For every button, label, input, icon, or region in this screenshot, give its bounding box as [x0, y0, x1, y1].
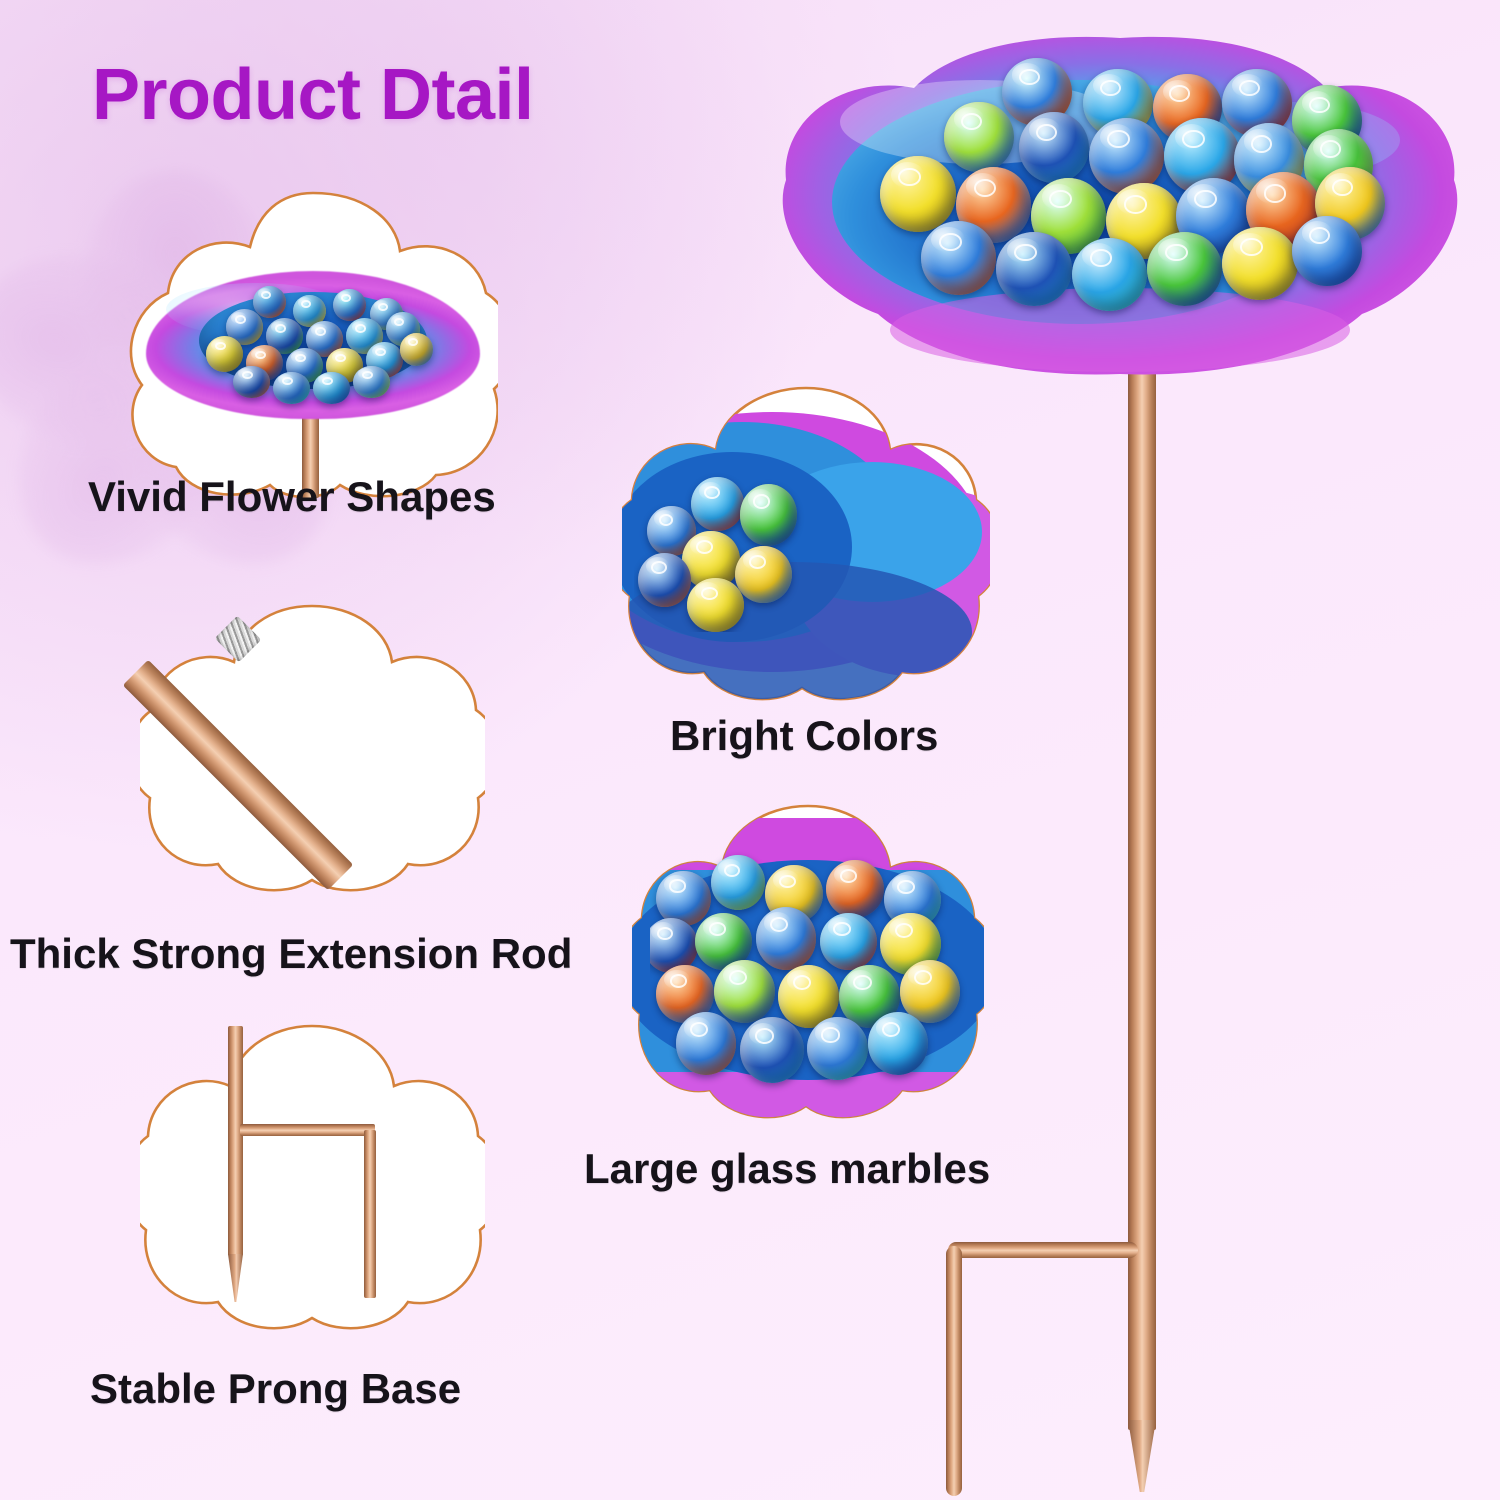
extension-rod-illustration: [186, 640, 436, 860]
hero-bracket-vertical: [946, 1246, 962, 1496]
hero-stake-tip: [1128, 1420, 1156, 1492]
feature-vivid-flower-shapes: Vivid Flower Shapes: [128, 185, 498, 505]
hero-product: [760, 20, 1480, 1490]
bracket-vertical: [364, 1130, 376, 1298]
hero-rod: [1128, 360, 1156, 1430]
prong-base-illustration: [140, 1020, 485, 1340]
feature-thick-strong-extension-rod: Thick Strong Extension Rod: [140, 600, 485, 900]
feature-caption: Stable Prong Base: [90, 1365, 461, 1413]
page-title: Product Dtail: [92, 54, 534, 136]
feature-caption: Vivid Flower Shapes: [88, 473, 496, 521]
main-stake: [228, 1026, 243, 1256]
hero-bracket-horizontal: [948, 1242, 1138, 1258]
stake-tip: [228, 1254, 243, 1302]
bracket-horizontal: [240, 1124, 375, 1136]
hero-flower-dish: [770, 30, 1470, 380]
feature-stable-prong-base: Stable Prong Base: [140, 1020, 485, 1340]
flower-dish: [146, 271, 480, 419]
feature-caption: Thick Strong Extension Rod: [10, 930, 572, 978]
